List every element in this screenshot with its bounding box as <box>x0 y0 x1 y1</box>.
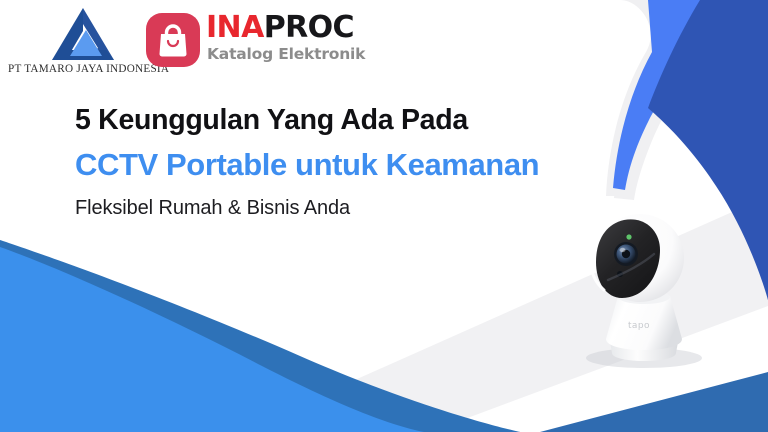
product-camera-image: tapo <box>548 206 738 386</box>
inaproc-wordmark: INAPROC <box>206 11 354 45</box>
headline-line-2: CCTV Portable untuk Keamanan <box>75 143 695 187</box>
inaproc-word-primary: INA <box>206 10 264 45</box>
product-brand-text: tapo <box>628 321 650 331</box>
inaproc-logo: INAPROC Katalog Elektronik <box>146 11 341 69</box>
bottom-left-blue-shape <box>0 247 424 432</box>
company-logo: PT TAMARO JAYA INDONESIA <box>8 6 156 84</box>
shopping-bag-icon <box>146 13 200 67</box>
triangle-mark-icon <box>46 6 120 62</box>
company-name: PT TAMARO JAYA INDONESIA <box>8 63 156 75</box>
promo-banner: PT TAMARO JAYA INDONESIA INAPROC Katalog… <box>0 0 768 432</box>
headline-line-1: 5 Keunggulan Yang Ada Pada <box>75 100 695 140</box>
camera-status-led <box>626 234 631 239</box>
inaproc-tagline: Katalog Elektronik <box>207 45 365 64</box>
headline-block: 5 Keunggulan Yang Ada Pada CCTV Portable… <box>75 100 695 223</box>
logo-row: PT TAMARO JAYA INDONESIA INAPROC Katalog… <box>0 0 420 92</box>
inaproc-word-secondary: PROC <box>264 10 354 45</box>
bottom-left-dark-blue-stripe <box>0 240 520 432</box>
camera-lens-highlight <box>620 248 626 252</box>
